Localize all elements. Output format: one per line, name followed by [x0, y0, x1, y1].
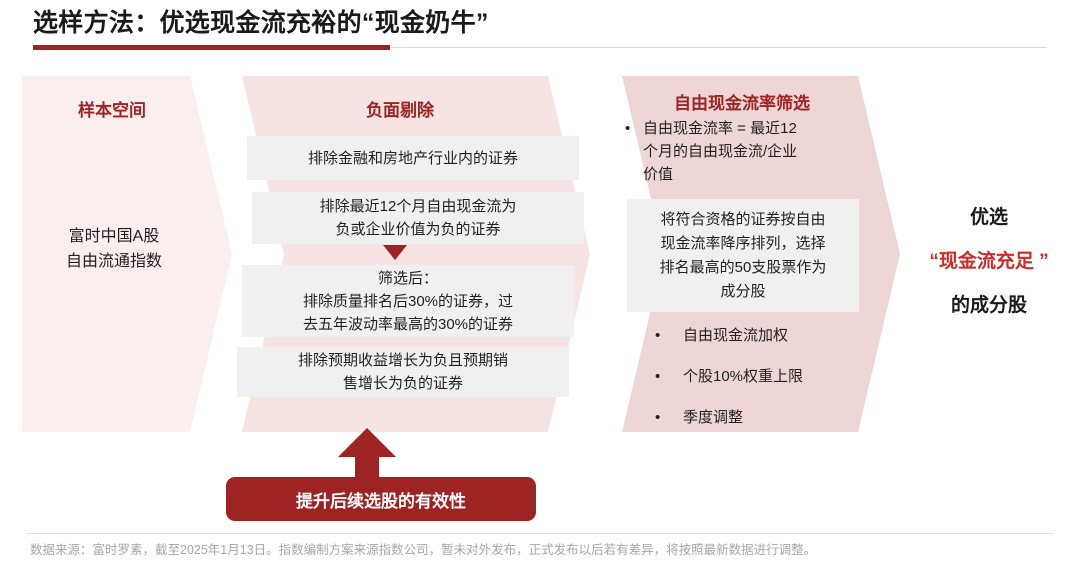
conclusion-block: 优选 “现金流充足 ” 的成分股 [905, 196, 1073, 328]
footnote-divider [26, 533, 1054, 534]
negative-screen-box-2-line1: 排除最近12个月自由现金流为 [320, 195, 517, 218]
fcf-yield-definition-line1: 自由现金流率 = 最近12 [643, 120, 797, 137]
bullet-icon: • [625, 117, 643, 140]
negative-screen-box-2-line2: 负或企业价值为负的证券 [320, 218, 517, 241]
fcf-yield-selection-line4: 成分股 [660, 280, 827, 304]
bullet-icon: • [655, 365, 683, 388]
list-item: • 自由现金流率 = 最近12 个月的自由现金流/企业 价值 [625, 117, 857, 186]
fcf-yield-selection-box: 将符合资格的证券按自由 现金流率降序排列，选择 排名最高的50支股票作为 成分股 [627, 199, 859, 312]
panel-sample-space-body: 富时中国A股 自由流通指数 [30, 224, 198, 274]
title-block: 选样方法：优选现金流充裕的“现金奶牛” [33, 6, 1047, 54]
list-item: • 个股10%权重上限 [655, 365, 875, 388]
bullet-icon: • [655, 406, 683, 429]
conclusion-line-2-highlight: “现金流充足 ” [905, 240, 1073, 284]
rebalance-label: 季度调整 [683, 406, 875, 429]
fcf-yield-top-bullets: • 自由现金流率 = 最近12 个月的自由现金流/企业 价值 [625, 117, 857, 186]
callout-effectiveness: 提升后续选股的有效性 [226, 477, 536, 521]
negative-screen-box-3: 筛选后： 排除质量排名后30%的证券，过 去五年波动率最高的30%的证券 [242, 265, 574, 337]
fcf-yield-bottom-bullets: • 自由现金流加权 • 个股10%权重上限 • 季度调整 [655, 324, 875, 447]
negative-screen-box-3-line3: 去五年波动率最高的30%的证券 [303, 313, 513, 336]
panel-fcf-yield-header: 自由现金流率筛选 [612, 89, 872, 114]
negative-screen-box-4: 排除预期收益增长为负且预期销 售增长为负的证券 [237, 347, 569, 397]
negative-screen-box-1: 排除金融和房地产行业内的证券 [247, 136, 579, 180]
list-item: • 自由现金流加权 [655, 324, 875, 347]
arrow-up-icon [338, 428, 396, 484]
page-title: 选样方法：优选现金流充裕的“现金奶牛” [33, 6, 1047, 40]
list-item: • 季度调整 [655, 406, 875, 429]
fcf-yield-selection-line2: 现金流率降序排列，选择 [660, 232, 827, 256]
negative-screen-box-3-line1: 筛选后： [303, 267, 513, 290]
bullet-icon: • [655, 324, 683, 347]
footnote-source: 数据来源：富时罗素，截至2025年1月13日。指数编制方案来源指数公司，暂未对外… [30, 541, 1060, 559]
fcf-yield-definition-line3: 价值 [643, 166, 673, 183]
panel-sample-space-line1: 富时中国A股 [30, 224, 198, 249]
panel-negative-screen-header: 负面剔除 [240, 96, 560, 121]
negative-screen-box-3-line2: 排除质量排名后30%的证券，过 [303, 290, 513, 313]
negative-screen-box-4-line2: 售增长为负的证券 [298, 372, 508, 395]
panel-sample-space-header: 样本空间 [22, 96, 202, 121]
conclusion-line-1: 优选 [905, 196, 1073, 240]
fcf-yield-selection-line3: 排名最高的50支股票作为 [660, 256, 827, 280]
fcf-yield-selection-line1: 将符合资格的证券按自由 [660, 208, 827, 232]
negative-screen-box-1-line1: 排除金融和房地产行业内的证券 [308, 147, 518, 170]
negative-screen-box-2: 排除最近12个月自由现金流为 负或企业价值为负的证券 [252, 192, 584, 244]
arrow-down-icon [383, 245, 407, 260]
panel-sample-space-line2: 自由流通指数 [30, 249, 198, 274]
callout-label: 提升后续选股的有效性 [296, 487, 466, 512]
conclusion-line-3: 的成分股 [905, 284, 1073, 328]
title-accent-underline [33, 45, 390, 50]
fcf-weighting-label: 自由现金流加权 [683, 324, 875, 347]
fcf-yield-definition-line2: 个月的自由现金流/企业 [643, 143, 797, 160]
negative-screen-box-4-line1: 排除预期收益增长为负且预期销 [298, 349, 508, 372]
weight-cap-label: 个股10%权重上限 [683, 365, 875, 388]
fcf-yield-definition: 自由现金流率 = 最近12 个月的自由现金流/企业 价值 [643, 117, 857, 186]
